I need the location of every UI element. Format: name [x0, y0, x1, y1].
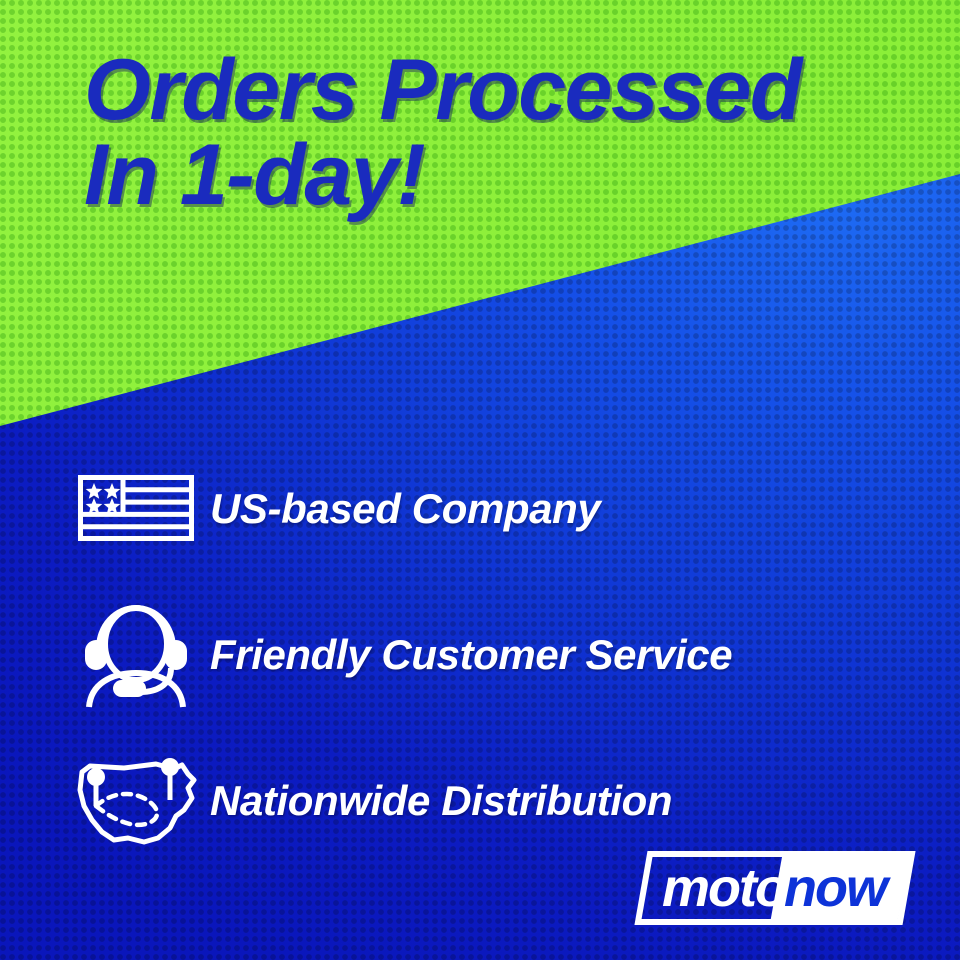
feature-label: US-based Company [210, 485, 600, 533]
feature-item: US-based Company [62, 436, 882, 582]
headline: Orders Processed In 1-day! [84, 48, 914, 218]
us-map-pins-icon [62, 754, 210, 848]
headset-agent-icon [62, 602, 210, 708]
us-flag-icon [62, 474, 210, 544]
feature-label: Nationwide Distribution [210, 777, 672, 825]
motonow-logo[interactable]: moto now [634, 850, 916, 926]
feature-label: Friendly Customer Service [210, 631, 732, 679]
logo-word-moto: moto [662, 858, 787, 918]
logo-word-now: now [784, 858, 891, 918]
feature-list: US-based Company [62, 436, 882, 874]
promo-banner: Orders Processed In 1-day! [0, 0, 960, 960]
feature-item: Friendly Customer Service [62, 582, 882, 728]
